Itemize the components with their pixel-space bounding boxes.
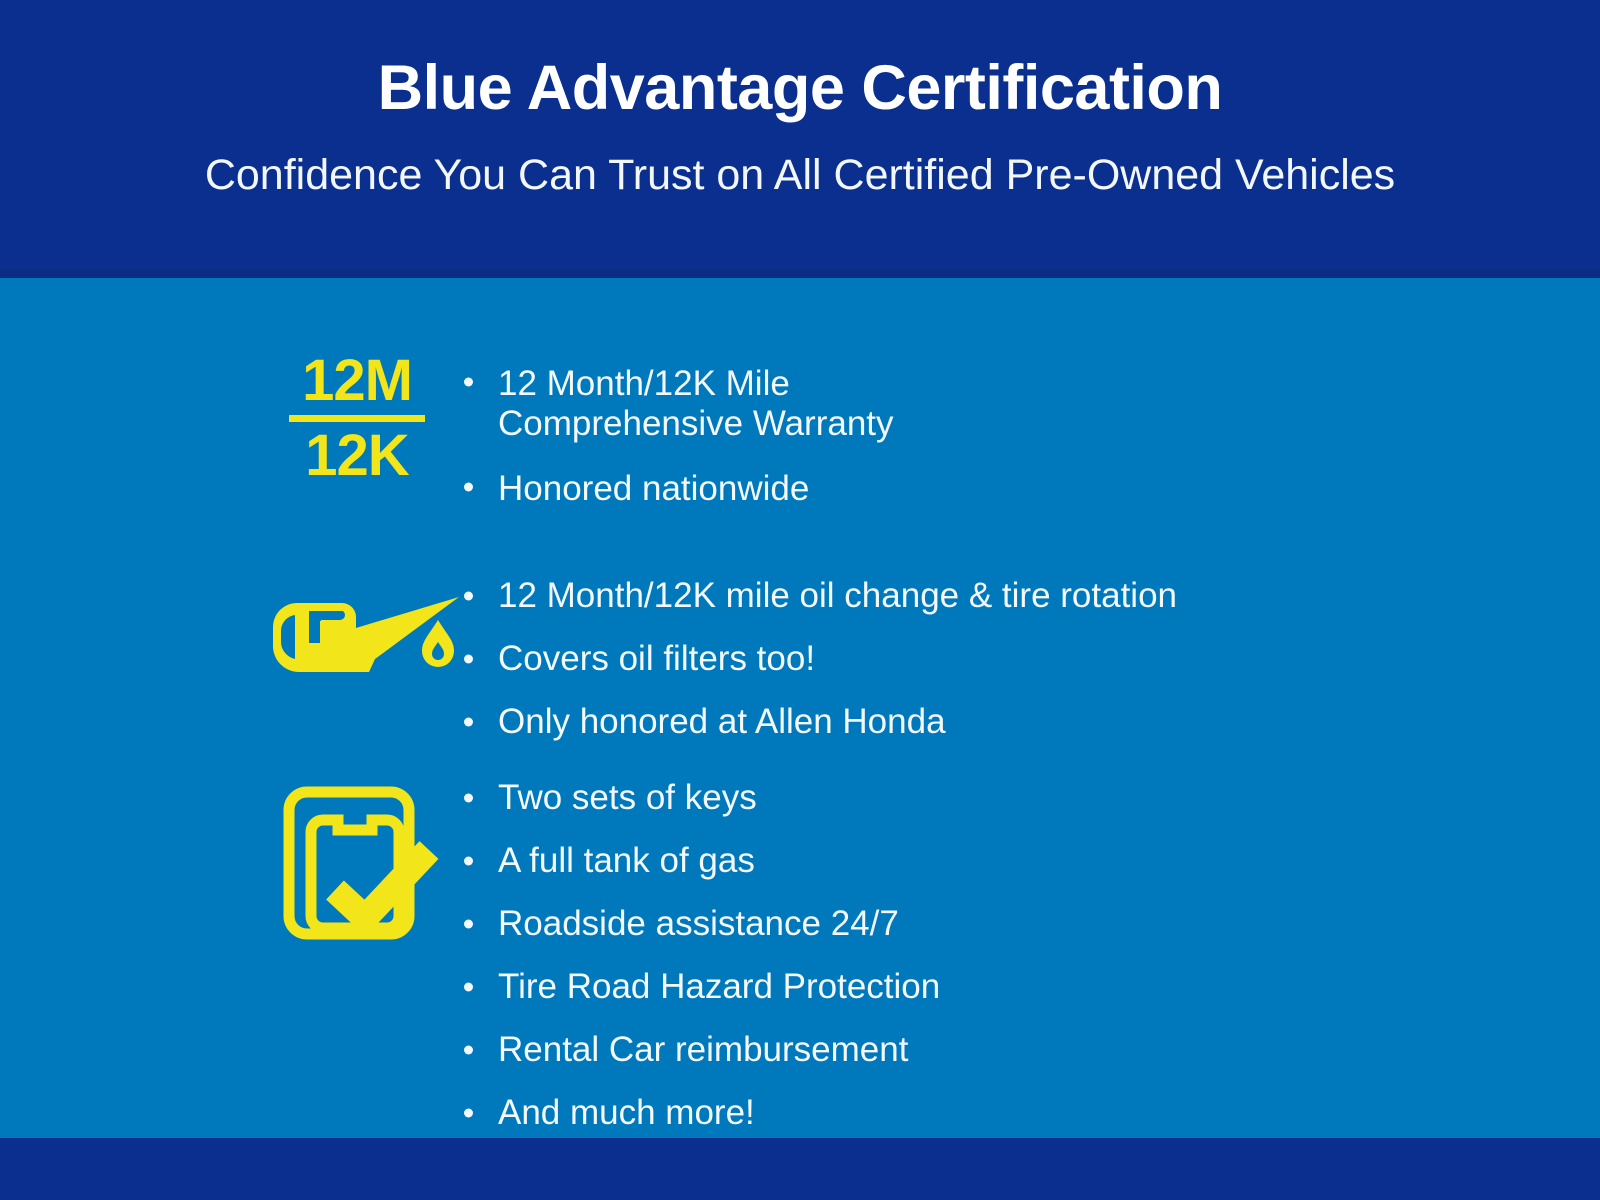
list-item: Rental Car reimbursement	[456, 1032, 1156, 1067]
clipboard-check-icon	[283, 782, 443, 942]
list-item-line-1: Only honored at Allen Honda	[498, 704, 1356, 739]
feature-2-bullet-list: 12 Month/12K mile oil change & tire rota…	[456, 578, 1356, 739]
list-item: Two sets of keys	[456, 780, 1156, 815]
feature-3-bullet-list: Two sets of keys A full tank of gas Road…	[456, 780, 1156, 1130]
12m-over-12k-fraction-icon: 12M 12K	[287, 352, 427, 485]
list-item-line-1: Honored nationwide	[498, 469, 1076, 509]
bullet-dot	[464, 1109, 473, 1118]
bullet-dot	[464, 794, 473, 803]
list-item-line-1: Roadside assistance 24/7	[498, 906, 1156, 941]
certification-infographic: Blue Advantage Certification Confidence …	[0, 0, 1600, 1200]
bullet-dot	[464, 592, 473, 601]
bullet-dot	[464, 1046, 473, 1055]
bullet-dot	[464, 857, 473, 866]
oil-can-icon	[263, 575, 463, 675]
list-item: A full tank of gas	[456, 843, 1156, 878]
bullet-dot	[464, 378, 473, 387]
list-item: Honored nationwide	[456, 469, 1076, 509]
list-item-line-1: Two sets of keys	[498, 780, 1156, 815]
fraction-denominator: 12K	[287, 427, 427, 485]
bullet-dot	[464, 920, 473, 929]
feature-1-bullet-list: 12 Month/12K Mile Comprehensive Warranty…	[456, 364, 1076, 509]
bullet-dot	[464, 718, 473, 727]
bullet-dot	[464, 655, 473, 664]
list-item: 12 Month/12K mile oil change & tire rota…	[456, 578, 1356, 613]
page-title: Blue Advantage Certification	[0, 55, 1600, 121]
list-item-line-1: A full tank of gas	[498, 843, 1156, 878]
header-divider	[0, 270, 1600, 278]
list-item: Only honored at Allen Honda	[456, 704, 1356, 739]
page-subtitle: Confidence You Can Trust on All Certifie…	[0, 152, 1600, 199]
list-item-line-2: Comprehensive Warranty	[498, 404, 1076, 444]
list-item: 12 Month/12K Mile Comprehensive Warranty	[456, 364, 1076, 443]
list-item-line-1: 12 Month/12K mile oil change & tire rota…	[498, 578, 1356, 613]
fraction-numerator: 12M	[287, 352, 427, 415]
header-banner: Blue Advantage Certification Confidence …	[0, 0, 1600, 270]
list-item: Tire Road Hazard Protection	[456, 969, 1156, 1004]
list-item-line-1: Rental Car reimbursement	[498, 1032, 1156, 1067]
list-item-line-1: Tire Road Hazard Protection	[498, 969, 1156, 1004]
list-item-line-1: 12 Month/12K Mile	[498, 364, 1076, 404]
list-item-line-1: And much more!	[498, 1095, 1156, 1130]
fraction-bar	[289, 415, 425, 422]
footer-bar	[0, 1138, 1600, 1200]
bullet-dot	[464, 483, 473, 492]
list-item: Roadside assistance 24/7	[456, 906, 1156, 941]
bullet-dot	[464, 983, 473, 992]
list-item: And much more!	[456, 1095, 1156, 1130]
list-item: Covers oil filters too!	[456, 641, 1356, 676]
list-item-line-1: Covers oil filters too!	[498, 641, 1356, 676]
